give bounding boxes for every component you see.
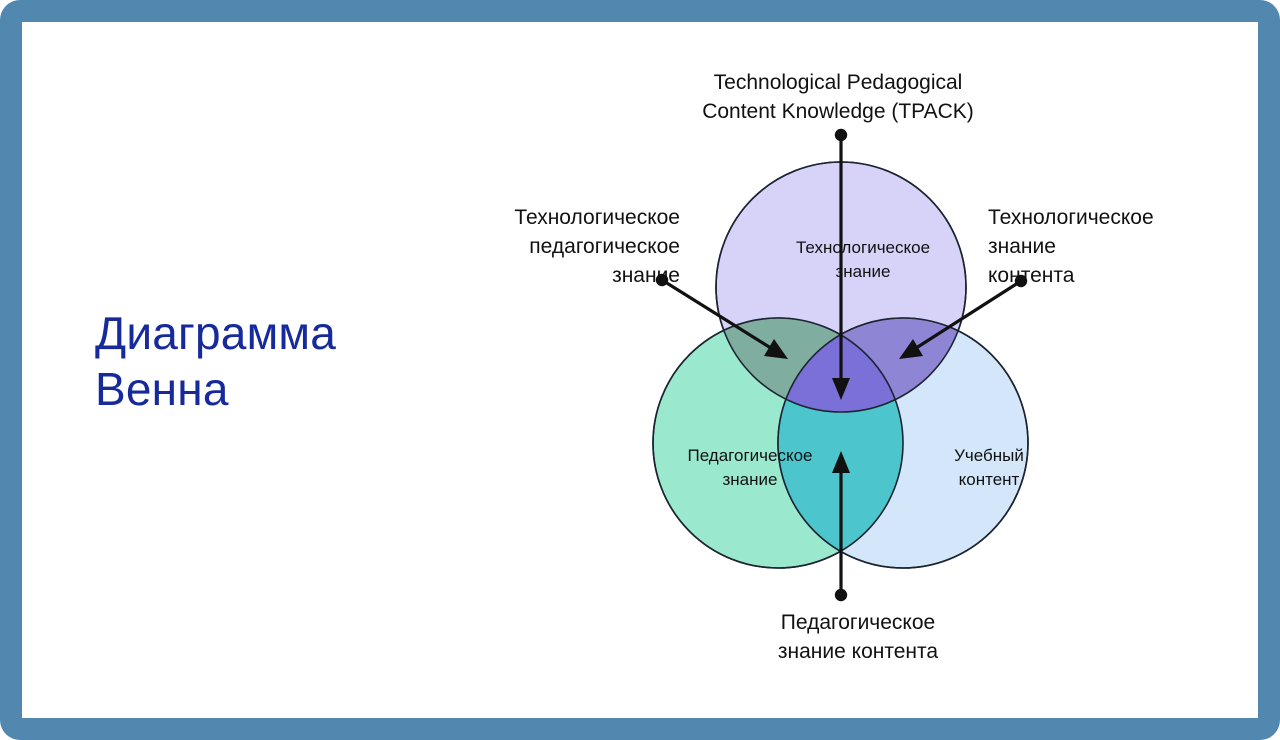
caption-technological-content-knowledge: Технологическое знание контента <box>988 203 1228 290</box>
caption-tpack: Technological Pedagogical Content Knowle… <box>668 68 1008 126</box>
caption-technological-pedagogical-knowledge: Технологическое педагогическое знание <box>442 203 680 290</box>
caption-pedagogical-content-knowledge: Педагогическое знание контента <box>708 608 1008 666</box>
connector-tpack-dot <box>835 129 847 141</box>
venn-diagram <box>22 22 1258 718</box>
slide-frame: Диаграмма Венна <box>0 0 1280 740</box>
slide-canvas: Диаграмма Венна <box>22 22 1258 718</box>
connector-pck-dot <box>835 589 847 601</box>
